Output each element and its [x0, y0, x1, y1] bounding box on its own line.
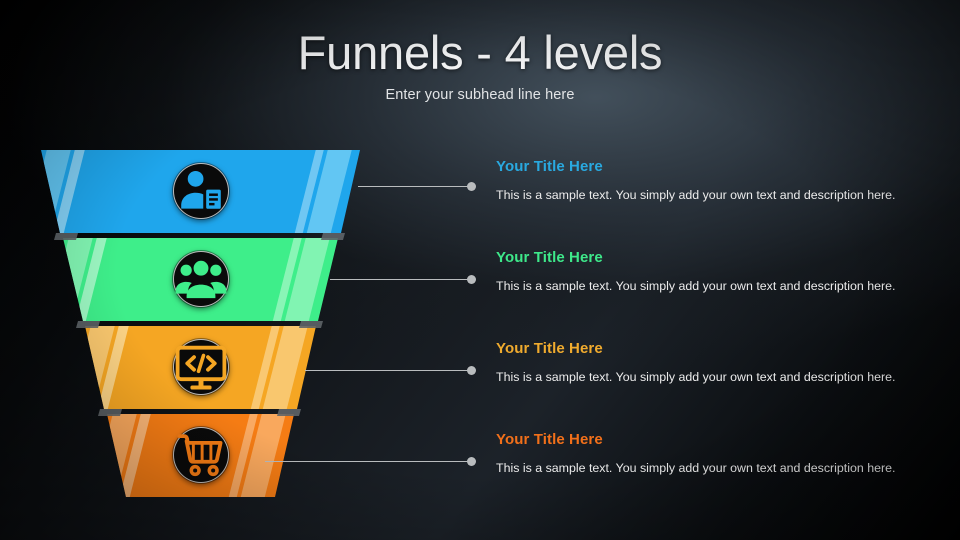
funnel-icon-badge-4[interactable] — [173, 427, 229, 483]
detail-item-4: Your Title Here This is a sample text. Y… — [496, 431, 896, 480]
slide-canvas: Funnels - 4 levels Enter your subhead li… — [0, 0, 960, 540]
connector-dot-1 — [467, 182, 476, 191]
detail-body-1: This is a sample text. You simply add yo… — [496, 184, 896, 207]
connector-dot-4 — [467, 457, 476, 466]
page-title: Funnels - 4 levels — [0, 28, 960, 77]
funnel-diagram — [26, 140, 386, 512]
detail-title-3: Your Title Here — [496, 340, 896, 358]
detail-title-4: Your Title Here — [496, 431, 896, 449]
detail-item-3: Your Title Here This is a sample text. Y… — [496, 340, 896, 389]
detail-item-1: Your Title Here This is a sample text. Y… — [496, 158, 896, 207]
slide-header: Funnels - 4 levels Enter your subhead li… — [0, 28, 960, 103]
detail-title-2: Your Title Here — [496, 249, 896, 267]
detail-item-2: Your Title Here This is a sample text. Y… — [496, 249, 896, 298]
page-subtitle: Enter your subhead line here — [0, 87, 960, 103]
shopping-cart-icon — [174, 269, 228, 540]
detail-body-3: This is a sample text. You simply add yo… — [496, 366, 896, 389]
connector-dot-3 — [467, 366, 476, 375]
connector-dot-2 — [467, 275, 476, 284]
detail-title-1: Your Title Here — [496, 158, 896, 176]
detail-body-4: This is a sample text. You simply add yo… — [496, 457, 896, 480]
detail-body-2: This is a sample text. You simply add yo… — [496, 275, 896, 298]
